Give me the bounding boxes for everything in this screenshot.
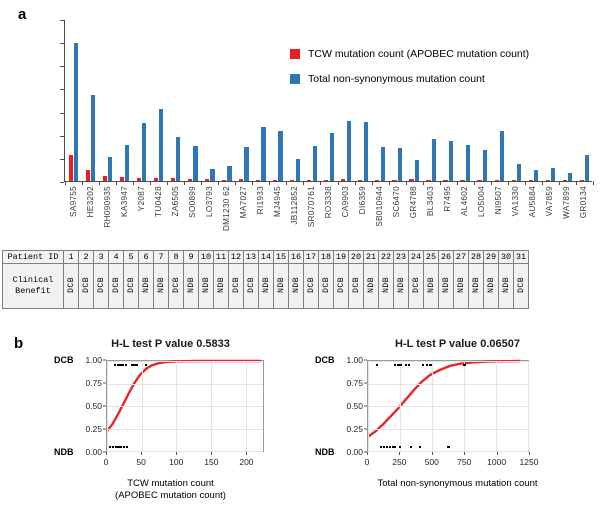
bar-group bbox=[150, 20, 167, 181]
rug-mark-dcb bbox=[136, 364, 138, 366]
logit-x-tick-mark bbox=[141, 452, 142, 455]
clinical-benefit-cell: DCB bbox=[244, 264, 259, 309]
logit-x-tick-mark bbox=[367, 452, 368, 455]
logit-x-tick-mark bbox=[399, 452, 400, 455]
bar-group bbox=[133, 20, 150, 181]
logit-right-axis-line1: Total non-synonymous mutation count bbox=[377, 478, 537, 489]
y-tick-mark bbox=[60, 159, 64, 160]
logit-y-tick-mark bbox=[364, 360, 367, 361]
clinical-benefit-label: NDB bbox=[142, 277, 151, 293]
clinical-benefit-label: NDB bbox=[187, 277, 196, 293]
logit-category-label-dcb: DCB bbox=[54, 355, 74, 365]
logit-y-tick-mark bbox=[103, 429, 106, 430]
patient-id-cell: 15 bbox=[274, 251, 289, 264]
x-axis-category-label: SO0899 bbox=[188, 186, 197, 218]
x-tick-mark bbox=[320, 181, 321, 185]
logit-left-title: H-L test P value 0.5833 bbox=[28, 338, 313, 350]
clinical-benefit-label: NDB bbox=[457, 277, 466, 293]
clinical-benefit-label: NDB bbox=[442, 277, 451, 293]
clinical-benefit-label: NDB bbox=[502, 277, 511, 293]
patient-id-cell: 2 bbox=[79, 251, 94, 264]
y-tick-mark bbox=[60, 113, 64, 114]
logit-x-tick-label: 200 bbox=[239, 457, 253, 467]
clinical-benefit-label: DCB bbox=[82, 277, 91, 293]
x-axis-category-label: ZA6505 bbox=[171, 186, 180, 216]
bar-group bbox=[286, 20, 303, 181]
clinical-benefit-cell: DCB bbox=[229, 264, 244, 309]
logit-x-tick-label: 1250 bbox=[520, 457, 539, 467]
logit-x-tick-mark bbox=[176, 452, 177, 455]
bar-total-count bbox=[483, 150, 487, 181]
rug-mark-dcb bbox=[429, 364, 431, 366]
clinical-benefit-label: NDB bbox=[202, 277, 211, 293]
bar-tcw-count bbox=[154, 178, 158, 181]
x-tick-mark bbox=[372, 181, 373, 185]
clinical-benefit-cell: NDB bbox=[289, 264, 304, 309]
x-tick-mark bbox=[457, 181, 458, 185]
bar-total-count bbox=[585, 155, 589, 181]
logit-y-tick-label: 0.75 bbox=[337, 378, 363, 388]
legend-item: Total non-synonymous mutation count bbox=[290, 73, 529, 85]
bar-group bbox=[99, 20, 116, 181]
x-axis-category-label: JB112852 bbox=[290, 186, 299, 225]
row-header-line1: Clinical bbox=[13, 275, 54, 285]
x-tick-mark bbox=[423, 181, 424, 185]
bar-total-count bbox=[432, 139, 436, 181]
bar-total-count bbox=[74, 43, 78, 181]
x-axis-category-label: LO3793 bbox=[205, 186, 214, 217]
x-axis-category-label: DI6359 bbox=[358, 186, 367, 214]
y-tick-mark bbox=[60, 136, 64, 137]
x-axis-category-label: BL3403 bbox=[426, 186, 435, 216]
bar-tcw-count bbox=[375, 180, 379, 181]
x-axis-category-label: LO5004 bbox=[477, 186, 486, 217]
clinical-benefit-cell: DCB bbox=[319, 264, 334, 309]
logit-left-plot-area bbox=[106, 360, 264, 452]
y-tick-mark bbox=[60, 89, 64, 90]
clinical-benefit-cell: DCB bbox=[109, 264, 124, 309]
logistic-chart-total: H-L test P value 0.06507 Total non-synon… bbox=[315, 338, 600, 506]
x-axis-category-label: DM1230 62 bbox=[222, 186, 231, 231]
bar-total-count bbox=[193, 146, 197, 181]
bar-total-count bbox=[159, 109, 163, 181]
clinical-benefit-cell: NDB bbox=[199, 264, 214, 309]
logit-right-axis-title: Total non-synonymous mutation count bbox=[315, 478, 600, 490]
x-axis-category-label: RH090935 bbox=[103, 186, 112, 228]
clinical-benefit-cell: NDB bbox=[274, 264, 289, 309]
x-axis-category-label: TU0428 bbox=[154, 186, 163, 217]
bar-group bbox=[423, 20, 440, 181]
x-tick-mark bbox=[286, 181, 287, 185]
bar-total-count bbox=[227, 166, 231, 182]
bar-tcw-count bbox=[477, 180, 481, 181]
x-axis-category-label: RO3338 bbox=[324, 186, 333, 218]
patient-id-cell: 22 bbox=[379, 251, 394, 264]
logit-x-tick-mark bbox=[464, 452, 465, 455]
gridline-horizontal bbox=[107, 406, 263, 407]
bar-total-count bbox=[398, 148, 402, 181]
bar-tcw-count bbox=[120, 177, 124, 181]
bar-tcw-count bbox=[392, 180, 396, 181]
mutation-bar-chart: 0200400600800100012001400 SA9755HE3202RH… bbox=[0, 14, 600, 196]
logit-y-tick-mark bbox=[103, 406, 106, 407]
patient-id-cell: 26 bbox=[439, 251, 454, 264]
chart-legend: TCW mutation count (APOBEC mutation coun… bbox=[290, 48, 529, 98]
clinical-benefit-label: NDB bbox=[382, 277, 391, 293]
patient-id-cell: 1 bbox=[64, 251, 79, 264]
logit-category-label-ndb: NDB bbox=[315, 447, 335, 457]
bar-total-count bbox=[466, 145, 470, 181]
logit-x-tick-label: 1000 bbox=[487, 457, 506, 467]
bar-total-count bbox=[313, 146, 317, 181]
clinical-benefit-label: DCB bbox=[337, 277, 346, 293]
logit-x-tick-label: 50 bbox=[136, 457, 145, 467]
gridline-horizontal bbox=[368, 361, 528, 362]
table-row-patient-id: Patient ID 12345678910111213141516171819… bbox=[3, 251, 529, 264]
patient-id-cell: 30 bbox=[499, 251, 514, 264]
row-header-patient-id: Patient ID bbox=[3, 251, 64, 264]
bar-group bbox=[474, 20, 491, 181]
row-header-clinical-benefit: Clinical Benefit bbox=[3, 264, 64, 309]
patient-id-cell: 4 bbox=[109, 251, 124, 264]
rug-mark-dcb bbox=[408, 364, 410, 366]
clinical-benefit-label: DCB bbox=[232, 277, 241, 293]
bar-group bbox=[508, 20, 525, 181]
clinical-benefit-cell: NDB bbox=[424, 264, 439, 309]
bar-tcw-count bbox=[239, 179, 243, 181]
rug-mark-ndb bbox=[126, 446, 128, 448]
bar-total-count bbox=[415, 160, 419, 181]
gridline-horizontal bbox=[107, 361, 263, 362]
legend-item: TCW mutation count (APOBEC mutation coun… bbox=[290, 48, 529, 60]
clinical-benefit-cell: NDB bbox=[394, 264, 409, 309]
patient-id-cell: 21 bbox=[364, 251, 379, 264]
bar-tcw-count bbox=[137, 178, 141, 181]
clinical-benefit-cell: DCB bbox=[304, 264, 319, 309]
clinical-benefit-cell: NDB bbox=[364, 264, 379, 309]
bar-total-count bbox=[176, 137, 180, 181]
bar-group bbox=[201, 20, 218, 181]
bar-total-count bbox=[551, 168, 555, 181]
rug-mark-ndb bbox=[394, 446, 396, 448]
patient-id-cell: 17 bbox=[304, 251, 319, 264]
logit-y-tick-label: 1.00 bbox=[337, 355, 363, 365]
bar-total-count bbox=[210, 169, 214, 181]
bar-group bbox=[320, 20, 337, 181]
bar-tcw-count bbox=[307, 180, 311, 182]
rug-mark-ndb bbox=[399, 446, 401, 448]
rug-mark-dcb bbox=[376, 364, 378, 366]
bar-tcw-count bbox=[171, 178, 175, 181]
bar-total-count bbox=[296, 159, 300, 181]
bar-tcw-count bbox=[426, 180, 430, 181]
patient-id-cell: 31 bbox=[514, 251, 529, 264]
bar-total-count bbox=[330, 133, 334, 181]
clinical-benefit-label: NDB bbox=[472, 277, 481, 293]
clinical-benefit-label: NDB bbox=[487, 277, 496, 293]
rug-mark-dcb bbox=[399, 364, 401, 366]
logit-x-tick-mark bbox=[246, 452, 247, 455]
logit-category-label-dcb: DCB bbox=[315, 355, 335, 365]
x-tick-mark bbox=[201, 181, 202, 185]
x-tick-mark bbox=[252, 181, 253, 185]
table-row-clinical-benefit: Clinical Benefit DCBDCBDCBDCBDCBNDBNDBDC… bbox=[3, 264, 529, 309]
patient-id-cell: 24 bbox=[409, 251, 424, 264]
logit-y-tick-label: 1.00 bbox=[76, 355, 102, 365]
rug-mark-ndb bbox=[410, 446, 412, 448]
bar-group bbox=[389, 20, 406, 181]
clinical-benefit-label: DCB bbox=[307, 277, 316, 293]
clinical-benefit-label: DCB bbox=[517, 277, 526, 293]
bar-total-count bbox=[517, 164, 521, 181]
clinical-benefit-label: NDB bbox=[277, 277, 286, 293]
bar-total-count bbox=[278, 131, 282, 181]
rug-mark-dcb bbox=[426, 364, 428, 366]
clinical-benefit-label: DCB bbox=[412, 277, 421, 293]
bar-tcw-count bbox=[460, 180, 464, 181]
logit-y-tick-label: 0.75 bbox=[76, 378, 102, 388]
bar-group bbox=[184, 20, 201, 181]
logistic-chart-tcw: H-L test P value 0.5833 TCW mutation cou… bbox=[28, 338, 313, 506]
x-tick-mark bbox=[440, 181, 441, 185]
bar-tcw-count bbox=[358, 180, 362, 181]
bar-group bbox=[269, 20, 286, 181]
logit-left-axis-line2: (APOBEC mutation count) bbox=[115, 490, 226, 501]
bar-group bbox=[525, 20, 542, 181]
x-tick-mark bbox=[474, 181, 475, 185]
clinical-benefit-cell: NDB bbox=[454, 264, 469, 309]
clinical-benefit-cell: NDB bbox=[184, 264, 199, 309]
patient-id-cell: 29 bbox=[484, 251, 499, 264]
bar-total-count bbox=[244, 147, 248, 181]
clinical-benefit-table: Patient ID 12345678910111213141516171819… bbox=[2, 250, 529, 309]
x-tick-mark bbox=[559, 181, 560, 185]
clinical-benefit-label: NDB bbox=[217, 277, 226, 293]
logit-x-tick-label: 500 bbox=[425, 457, 439, 467]
bar-tcw-count bbox=[512, 180, 516, 181]
clinical-benefit-label: DCB bbox=[247, 277, 256, 293]
bar-tcw-count bbox=[273, 180, 277, 181]
x-tick-mark bbox=[167, 181, 168, 185]
x-axis-category-label: GR4788 bbox=[409, 186, 418, 218]
bar-total-count bbox=[364, 122, 368, 181]
patient-id-cell: 23 bbox=[394, 251, 409, 264]
clinical-benefit-label: DCB bbox=[322, 277, 331, 293]
logit-x-tick-mark bbox=[432, 452, 433, 455]
patient-id-cell: 7 bbox=[154, 251, 169, 264]
y-tick-mark bbox=[60, 20, 64, 21]
row-header-line2: Benefit bbox=[15, 286, 51, 296]
logit-y-tick-label: 0.50 bbox=[76, 401, 102, 411]
patient-id-cell: 9 bbox=[184, 251, 199, 264]
logit-y-tick-label: 0.25 bbox=[76, 424, 102, 434]
patient-id-cell: 27 bbox=[454, 251, 469, 264]
x-axis-category-label: KA3947 bbox=[120, 186, 129, 217]
bar-group bbox=[167, 20, 184, 181]
gridline-horizontal bbox=[368, 429, 528, 430]
x-axis-category-label: RI1933 bbox=[256, 186, 265, 214]
bar-tcw-count bbox=[256, 180, 260, 182]
x-tick-mark bbox=[338, 181, 339, 185]
bar-total-count bbox=[125, 145, 129, 181]
bar-group bbox=[491, 20, 508, 181]
rug-mark-dcb bbox=[463, 364, 465, 366]
patient-id-cell: 8 bbox=[169, 251, 184, 264]
x-tick-mark bbox=[218, 181, 219, 185]
bar-tcw-count bbox=[495, 180, 499, 181]
x-tick-mark bbox=[303, 181, 304, 185]
rug-mark-ndb bbox=[447, 446, 449, 448]
bar-group bbox=[559, 20, 576, 181]
x-tick-mark bbox=[99, 181, 100, 185]
gridline-horizontal bbox=[107, 384, 263, 385]
logit-right-plot-area bbox=[367, 360, 529, 452]
x-axis-category-label: AL4602 bbox=[460, 186, 469, 216]
logit-right-title: H-L test P value 0.06507 bbox=[315, 338, 600, 350]
clinical-benefit-cell: DCB bbox=[94, 264, 109, 309]
clinical-benefit-label: DCB bbox=[112, 277, 121, 293]
bar-total-count bbox=[381, 147, 385, 181]
bar-group bbox=[65, 20, 82, 181]
gridline-vertical bbox=[528, 361, 529, 451]
bar-group bbox=[82, 20, 99, 181]
bar-group bbox=[406, 20, 423, 181]
clinical-benefit-cell: NDB bbox=[259, 264, 274, 309]
clinical-benefit-label: DCB bbox=[97, 277, 106, 293]
bar-total-count bbox=[568, 173, 572, 181]
clinical-benefit-label: NDB bbox=[157, 277, 166, 293]
bar-tcw-count bbox=[69, 155, 73, 181]
clinical-benefit-label: NDB bbox=[292, 277, 301, 293]
bar-group bbox=[116, 20, 133, 181]
logit-x-tick-label: 250 bbox=[392, 457, 406, 467]
bar-tcw-count bbox=[563, 180, 567, 181]
patient-id-cell: 3 bbox=[94, 251, 109, 264]
bar-group bbox=[303, 20, 320, 181]
logit-x-tick-label: 750 bbox=[457, 457, 471, 467]
patient-id-cell: 11 bbox=[214, 251, 229, 264]
bar-total-count bbox=[108, 157, 112, 181]
x-axis-category-label: SC6470 bbox=[392, 186, 401, 217]
x-axis-category-label: R7495 bbox=[443, 186, 452, 212]
logit-x-tick-mark bbox=[211, 452, 212, 455]
clinical-benefit-label: NDB bbox=[397, 277, 406, 293]
bar-group bbox=[338, 20, 355, 181]
x-tick-mark bbox=[235, 181, 236, 185]
x-tick-mark bbox=[116, 181, 117, 185]
logit-y-tick-mark bbox=[364, 429, 367, 430]
x-tick-mark bbox=[184, 181, 185, 185]
x-axis-category-label: SR070761 bbox=[307, 186, 316, 227]
x-axis-category-label: HE3202 bbox=[86, 186, 95, 217]
bar-tcw-count bbox=[86, 170, 90, 181]
bar-group bbox=[576, 20, 593, 181]
bar-group bbox=[235, 20, 252, 181]
patient-id-cell: 14 bbox=[259, 251, 274, 264]
logit-left-axis-line1: TCW mutation count bbox=[127, 478, 214, 489]
logit-y-tick-label: 0.00 bbox=[337, 447, 363, 457]
gridline-horizontal bbox=[368, 406, 528, 407]
patient-id-cell: 19 bbox=[334, 251, 349, 264]
x-axis-category-label: MA7027 bbox=[239, 186, 248, 218]
patient-id-cell: 18 bbox=[319, 251, 334, 264]
bar-tcw-count bbox=[205, 179, 209, 181]
rug-mark-dcb bbox=[125, 364, 127, 366]
rug-mark-dcb bbox=[145, 364, 147, 366]
bar-total-count bbox=[261, 127, 265, 181]
y-tick-mark bbox=[60, 66, 64, 67]
clinical-benefit-label: DCB bbox=[172, 277, 181, 293]
logit-x-tick-label: 100 bbox=[169, 457, 183, 467]
patient-id-cell: 6 bbox=[139, 251, 154, 264]
logit-y-tick-label: 0.25 bbox=[337, 424, 363, 434]
clinical-benefit-cell: DCB bbox=[124, 264, 139, 309]
clinical-benefit-cell: NDB bbox=[469, 264, 484, 309]
rug-mark-ndb bbox=[419, 446, 421, 448]
clinical-benefit-label: NDB bbox=[427, 277, 436, 293]
clinical-benefit-cell: DCB bbox=[514, 264, 529, 309]
bar-tcw-count bbox=[409, 179, 413, 181]
clinical-benefit-cell: NDB bbox=[214, 264, 229, 309]
clinical-benefit-cell: NDB bbox=[439, 264, 454, 309]
clinical-benefit-cell: NDB bbox=[499, 264, 514, 309]
x-axis-category-label: CA9903 bbox=[341, 186, 350, 217]
logit-y-tick-mark bbox=[103, 383, 106, 384]
logit-x-tick-label: 150 bbox=[204, 457, 218, 467]
bar-group bbox=[252, 20, 269, 181]
patient-id-cell: 16 bbox=[289, 251, 304, 264]
clinical-benefit-cell: NDB bbox=[154, 264, 169, 309]
rug-mark-dcb bbox=[422, 364, 424, 366]
logit-x-tick-mark bbox=[106, 452, 107, 455]
x-tick-mark bbox=[491, 181, 492, 185]
bar-group bbox=[372, 20, 389, 181]
clinical-benefit-cell: NDB bbox=[379, 264, 394, 309]
x-axis-category-label: VA7859 bbox=[545, 186, 554, 216]
gridline-horizontal bbox=[107, 429, 263, 430]
logit-y-tick-label: 0.50 bbox=[337, 401, 363, 411]
x-tick-mark bbox=[269, 181, 270, 185]
legend-label: TCW mutation count (APOBEC mutation coun… bbox=[308, 48, 529, 60]
patient-id-cell: 20 bbox=[349, 251, 364, 264]
clinical-benefit-cell: NDB bbox=[139, 264, 154, 309]
bar-group bbox=[440, 20, 457, 181]
legend-swatch-tcw bbox=[290, 49, 300, 59]
logit-x-tick-mark bbox=[497, 452, 498, 455]
bar-group bbox=[542, 20, 559, 181]
bar-group bbox=[218, 20, 235, 181]
logit-y-tick-mark bbox=[364, 383, 367, 384]
bar-tcw-count bbox=[580, 180, 584, 181]
x-axis-category-label: AU5884 bbox=[528, 186, 537, 217]
clinical-benefit-label: DCB bbox=[67, 277, 76, 293]
clinical-benefit-label: DCB bbox=[352, 277, 361, 293]
x-tick-mark bbox=[133, 181, 134, 185]
x-axis-category-label: MJ4945 bbox=[273, 186, 282, 217]
x-axis-category-label: SB010944 bbox=[375, 186, 384, 227]
x-tick-mark bbox=[542, 181, 543, 185]
bar-total-count bbox=[500, 131, 504, 181]
bar-tcw-count bbox=[529, 180, 533, 181]
legend-label: Total non-synonymous mutation count bbox=[308, 73, 485, 85]
patient-id-cell: 5 bbox=[124, 251, 139, 264]
logit-x-tick-label: 0 bbox=[104, 457, 109, 467]
x-axis-category-label: WA7899 bbox=[562, 186, 571, 219]
clinical-benefit-cell: DCB bbox=[334, 264, 349, 309]
logit-y-tick-label: 0.00 bbox=[76, 447, 102, 457]
logit-y-tick-mark bbox=[103, 360, 106, 361]
bar-tcw-count bbox=[290, 180, 294, 181]
